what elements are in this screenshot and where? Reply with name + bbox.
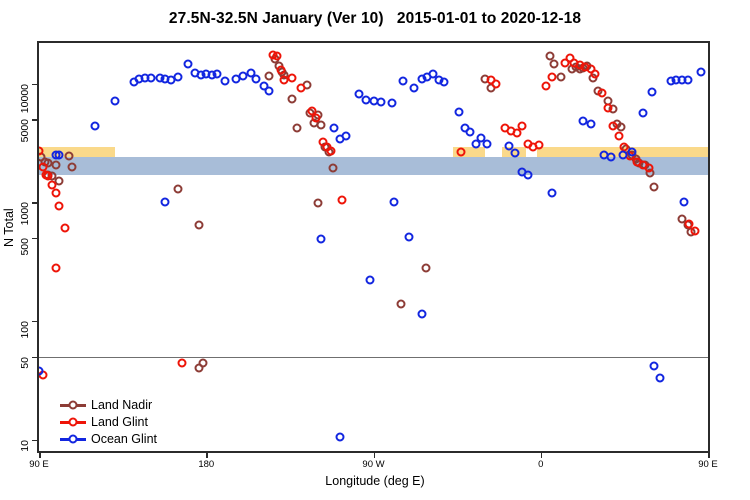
data-point [183,60,192,69]
data-point [194,221,203,230]
x-tick-label: 180 [198,459,214,470]
data-point [518,121,527,130]
data-point [421,263,430,272]
data-point [598,89,607,98]
data-point [690,227,699,236]
data-point [287,95,296,104]
x-axis-title: Longitude (deg E) [0,474,750,488]
data-point [55,201,64,210]
data-point [90,121,99,130]
data-point [311,114,320,123]
data-point [542,82,551,91]
y-tick-label: 10 [19,440,31,452]
legend-label: Land Glint [91,415,148,429]
legend: Land NadirLand GlintOcean Glint [60,397,157,447]
data-point [276,66,285,75]
x-tick-label: 90 E [698,459,718,470]
data-point [696,68,705,77]
data-point [51,188,60,197]
data-point [337,195,346,204]
data-point [609,121,618,130]
data-point [265,86,274,95]
data-point [417,309,426,318]
y-tick-label: 10000 [19,84,31,113]
legend-item-ocean-glint[interactable]: Ocean Glint [60,431,157,447]
data-point [111,96,120,105]
data-point [650,361,659,370]
legend-marker-icon [69,418,78,427]
x-tick-label: 0 [538,459,543,470]
data-point [194,364,203,373]
data-point [178,359,187,368]
data-point [547,73,556,82]
data-point [454,107,463,116]
data-point [146,74,155,83]
data-point [365,276,374,285]
legend-item-land-nadir[interactable]: Land Nadir [60,397,157,413]
data-point [679,198,688,207]
data-point [61,223,70,232]
data-point [512,129,521,138]
legend-swatch [60,416,86,428]
y-tick-label: 1000 [19,202,31,225]
legend-swatch [60,433,86,445]
data-point [590,70,599,79]
data-point [341,132,350,141]
data-point [549,60,558,69]
data-point [297,84,306,93]
data-point [650,182,659,191]
data-point [648,87,657,96]
data-point [272,52,281,61]
data-point [627,148,636,157]
y-tick-label: 100 [19,321,31,339]
data-point [440,77,449,86]
data-point [220,77,229,86]
data-point [456,148,465,157]
data-point [326,147,335,156]
data-point [534,140,543,149]
data-point [510,149,519,158]
plot-area [37,41,710,453]
chart-title: 27.5N-32.5N January (Ver 10) 2015-01-01 … [0,10,750,28]
data-point [683,75,692,84]
data-point [603,104,612,113]
legend-swatch [60,399,86,411]
data-point [287,73,296,82]
legend-marker-icon [69,401,78,410]
data-point [328,163,337,172]
data-point [638,108,647,117]
data-point [51,263,60,272]
data-point [618,151,627,160]
data-point [655,373,664,382]
data-point [557,73,566,82]
data-point [607,153,616,162]
y-tick-label: 5000 [19,119,31,142]
data-point [51,161,60,170]
x-tick-label: 90 E [29,459,49,470]
data-point [161,198,170,207]
data-point [397,300,406,309]
gridline-y [39,357,708,358]
legend-label: Ocean Glint [91,432,157,446]
y-tick-label: 500 [19,238,31,256]
data-point [586,119,595,128]
data-point [388,99,397,108]
data-point [64,152,73,161]
data-point [410,84,419,93]
data-point [293,124,302,133]
data-point [330,124,339,133]
y-axis-title: N Total [2,208,16,247]
data-point [523,170,532,179]
data-point [336,432,345,441]
data-point [317,234,326,243]
data-point [404,232,413,241]
data-point [482,139,491,148]
data-point [492,80,501,89]
legend-item-land-glint[interactable]: Land Glint [60,414,157,430]
data-point [55,151,64,160]
data-point [466,128,475,137]
data-point [614,132,623,141]
data-point [547,188,556,197]
data-point [399,77,408,86]
chart-figure: 27.5N-32.5N January (Ver 10) 2015-01-01 … [0,0,750,500]
data-point [174,72,183,81]
y-tick-label: 50 [19,357,31,369]
data-point [174,184,183,193]
data-point [376,97,385,106]
data-point [313,199,322,208]
data-point [389,198,398,207]
legend-label: Land Nadir [91,398,152,412]
data-point [68,162,77,171]
legend-marker-icon [69,435,78,444]
x-tick-label: 90 W [362,459,384,470]
data-point [644,163,653,172]
data-point [265,72,274,81]
